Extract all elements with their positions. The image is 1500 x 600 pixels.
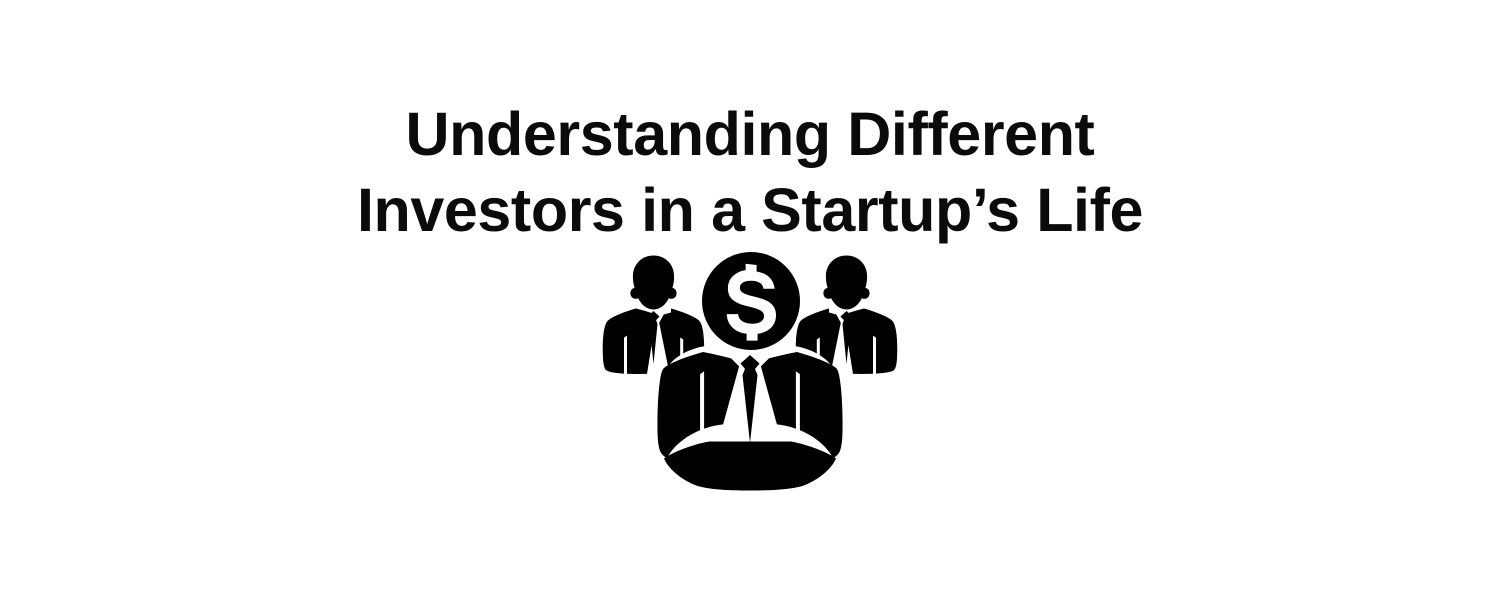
- dollar-coin-icon: [702, 252, 800, 350]
- investors-illustration-svg: [585, 245, 915, 495]
- investors-illustration: [585, 245, 915, 495]
- page-title-line-2: Investors in a Startup’s Life: [0, 172, 1500, 248]
- businessman-silhouette-center-icon: [657, 352, 842, 491]
- page-title: Understanding Different Investors in a S…: [0, 96, 1500, 248]
- page-title-line-1: Understanding Different: [0, 96, 1500, 172]
- businessman-silhouette-right-icon: [796, 256, 897, 374]
- slide-canvas: Understanding Different Investors in a S…: [0, 0, 1500, 600]
- businessman-silhouette-left-icon: [603, 256, 704, 374]
